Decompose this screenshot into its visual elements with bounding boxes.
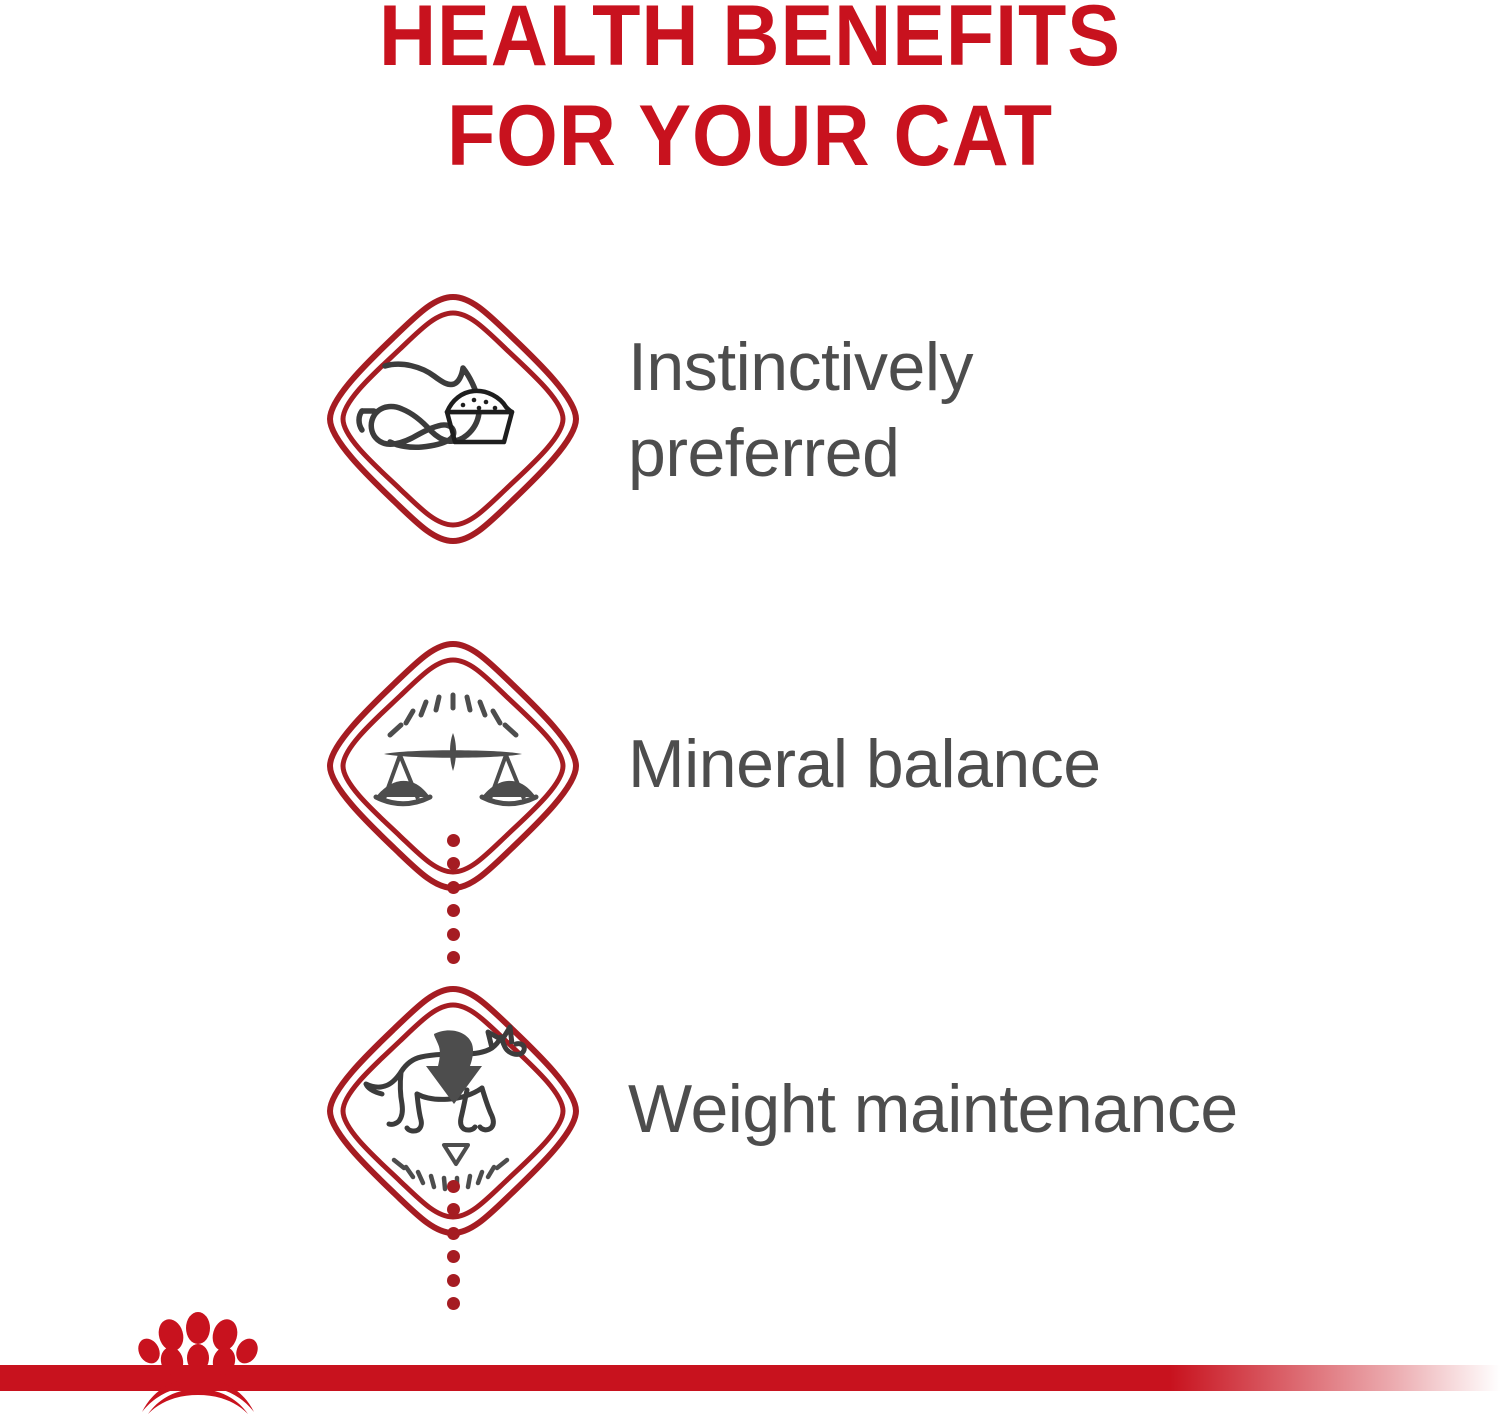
- benefit-label-1-line-1: Mineral balance: [628, 726, 1101, 802]
- badge-outer-outline: [330, 297, 576, 541]
- page-title: HEALTH BENEFITS FOR YOUR CAT: [0, 0, 1500, 186]
- connector-dot: [447, 881, 460, 894]
- benefit-label-2: Weight maintenance: [628, 1066, 1488, 1152]
- balance-scale-icon: [376, 695, 536, 804]
- page-title-line-2: FOR YOUR CAT: [60, 86, 1440, 186]
- connector-dot: [447, 951, 460, 964]
- royal-canin-crown-paw-logo-icon: [108, 1300, 288, 1414]
- benefit-label-2-line-1: Weight maintenance: [628, 1071, 1238, 1147]
- benefits-list: Instinctively preferred: [0, 282, 1500, 1262]
- benefit-item-instinctively-preferred: Instinctively preferred: [0, 290, 1500, 550]
- connector-dots-1: [444, 1180, 462, 1310]
- connector-dot: [447, 1180, 460, 1193]
- connector-dot: [447, 857, 460, 870]
- page-title-line-1: HEALTH BENEFITS: [60, 0, 1440, 86]
- connector-dot: [447, 1227, 460, 1240]
- connector-dots-0: [444, 834, 462, 964]
- connector-dot: [447, 834, 460, 847]
- connector-dot: [447, 1297, 460, 1310]
- connector-dot: [447, 1203, 460, 1216]
- benefit-item-weight-maintenance: Weight maintenance: [0, 982, 1500, 1242]
- connector-dot: [447, 1274, 460, 1287]
- benefit-label-0: Instinctively preferred: [628, 324, 1488, 496]
- connector-dot: [447, 928, 460, 941]
- benefit-label-0-line-2: preferred: [628, 415, 899, 491]
- badge-inner-outline: [343, 313, 563, 525]
- benefit-badge-0: [322, 290, 584, 548]
- benefit-label-1: Mineral balance: [628, 721, 1488, 807]
- connector-dot: [447, 1250, 460, 1263]
- benefit-item-mineral-balance: Mineral balance: [0, 637, 1500, 897]
- connector-dot: [447, 904, 460, 917]
- benefit-label-0-line-1: Instinctively: [628, 329, 973, 405]
